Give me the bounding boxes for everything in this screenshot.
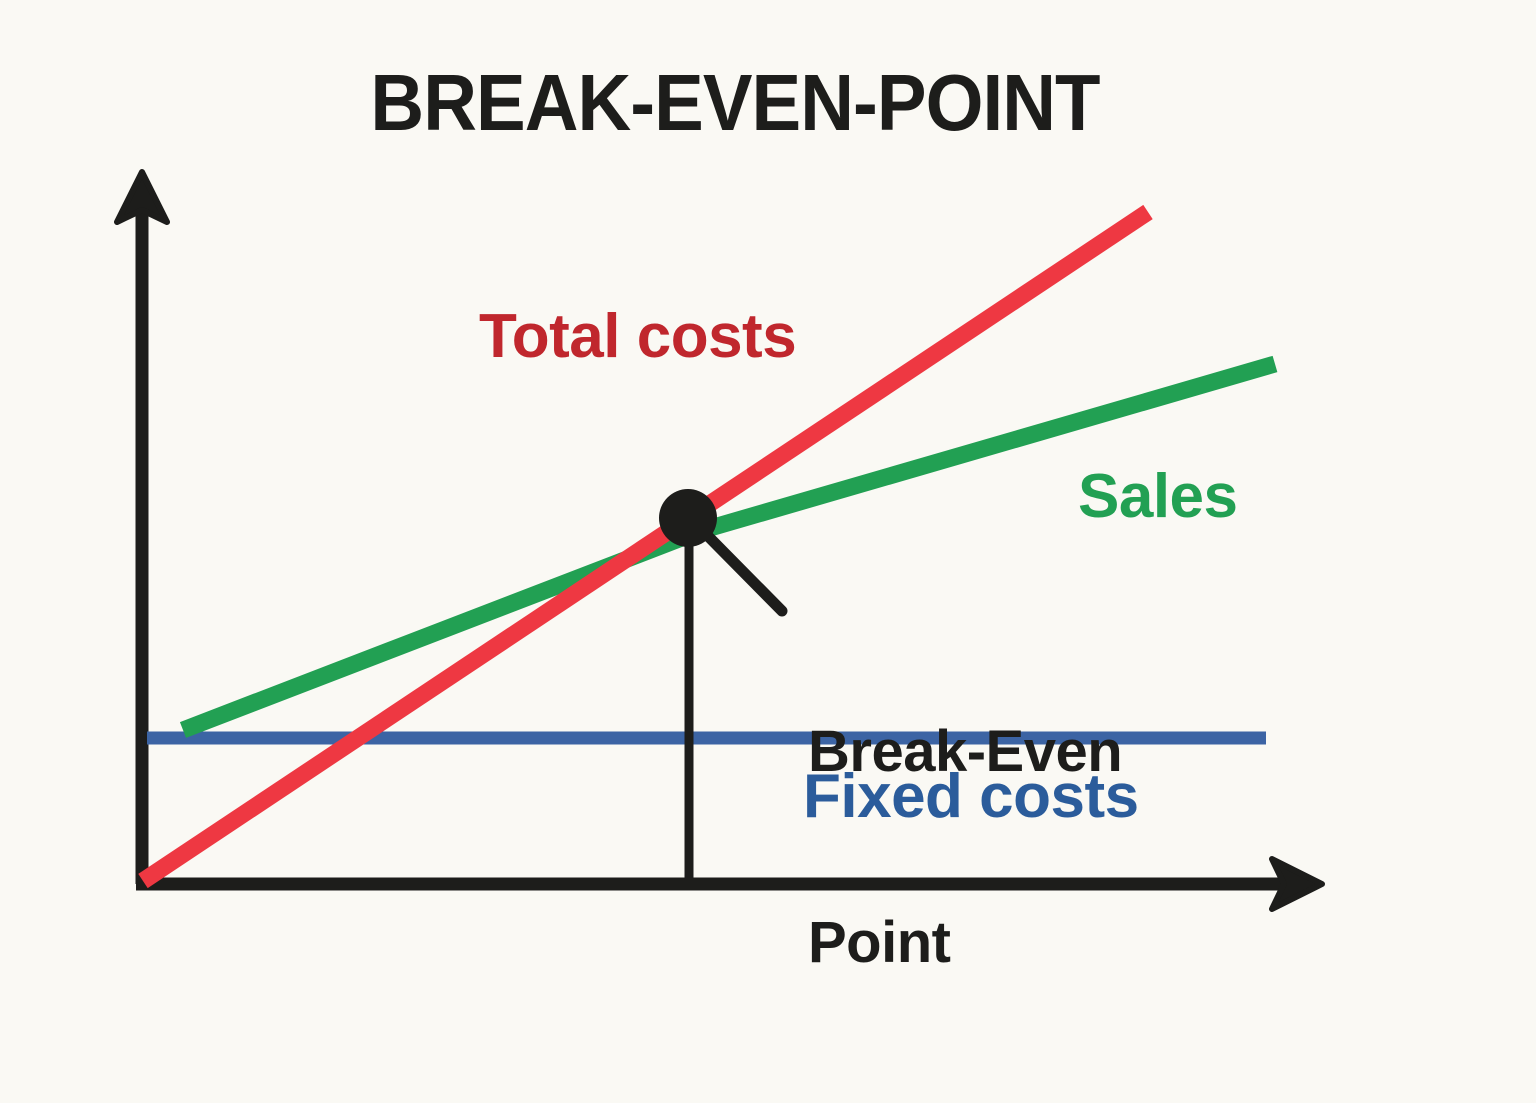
total-costs-label: Total costs [479, 305, 796, 368]
break-even-leader-line [700, 528, 782, 611]
break-even-point-label-line2: Point [808, 911, 1122, 975]
y-axis [117, 172, 167, 884]
chart-plot-area [0, 0, 1536, 1024]
break-even-diagram: BREAK-EVEN-POINT Total costs Sales Fixed… [0, 0, 1536, 1024]
break-even-point-label-line1: Break-Even [808, 720, 1122, 784]
sales-label: Sales [1078, 465, 1238, 528]
break-even-point-marker[interactable] [659, 489, 717, 547]
x-axis [136, 859, 1322, 909]
break-even-point-label: Break-Even Point [808, 592, 1122, 1102]
page-title: BREAK-EVEN-POINT [51, 62, 1418, 144]
